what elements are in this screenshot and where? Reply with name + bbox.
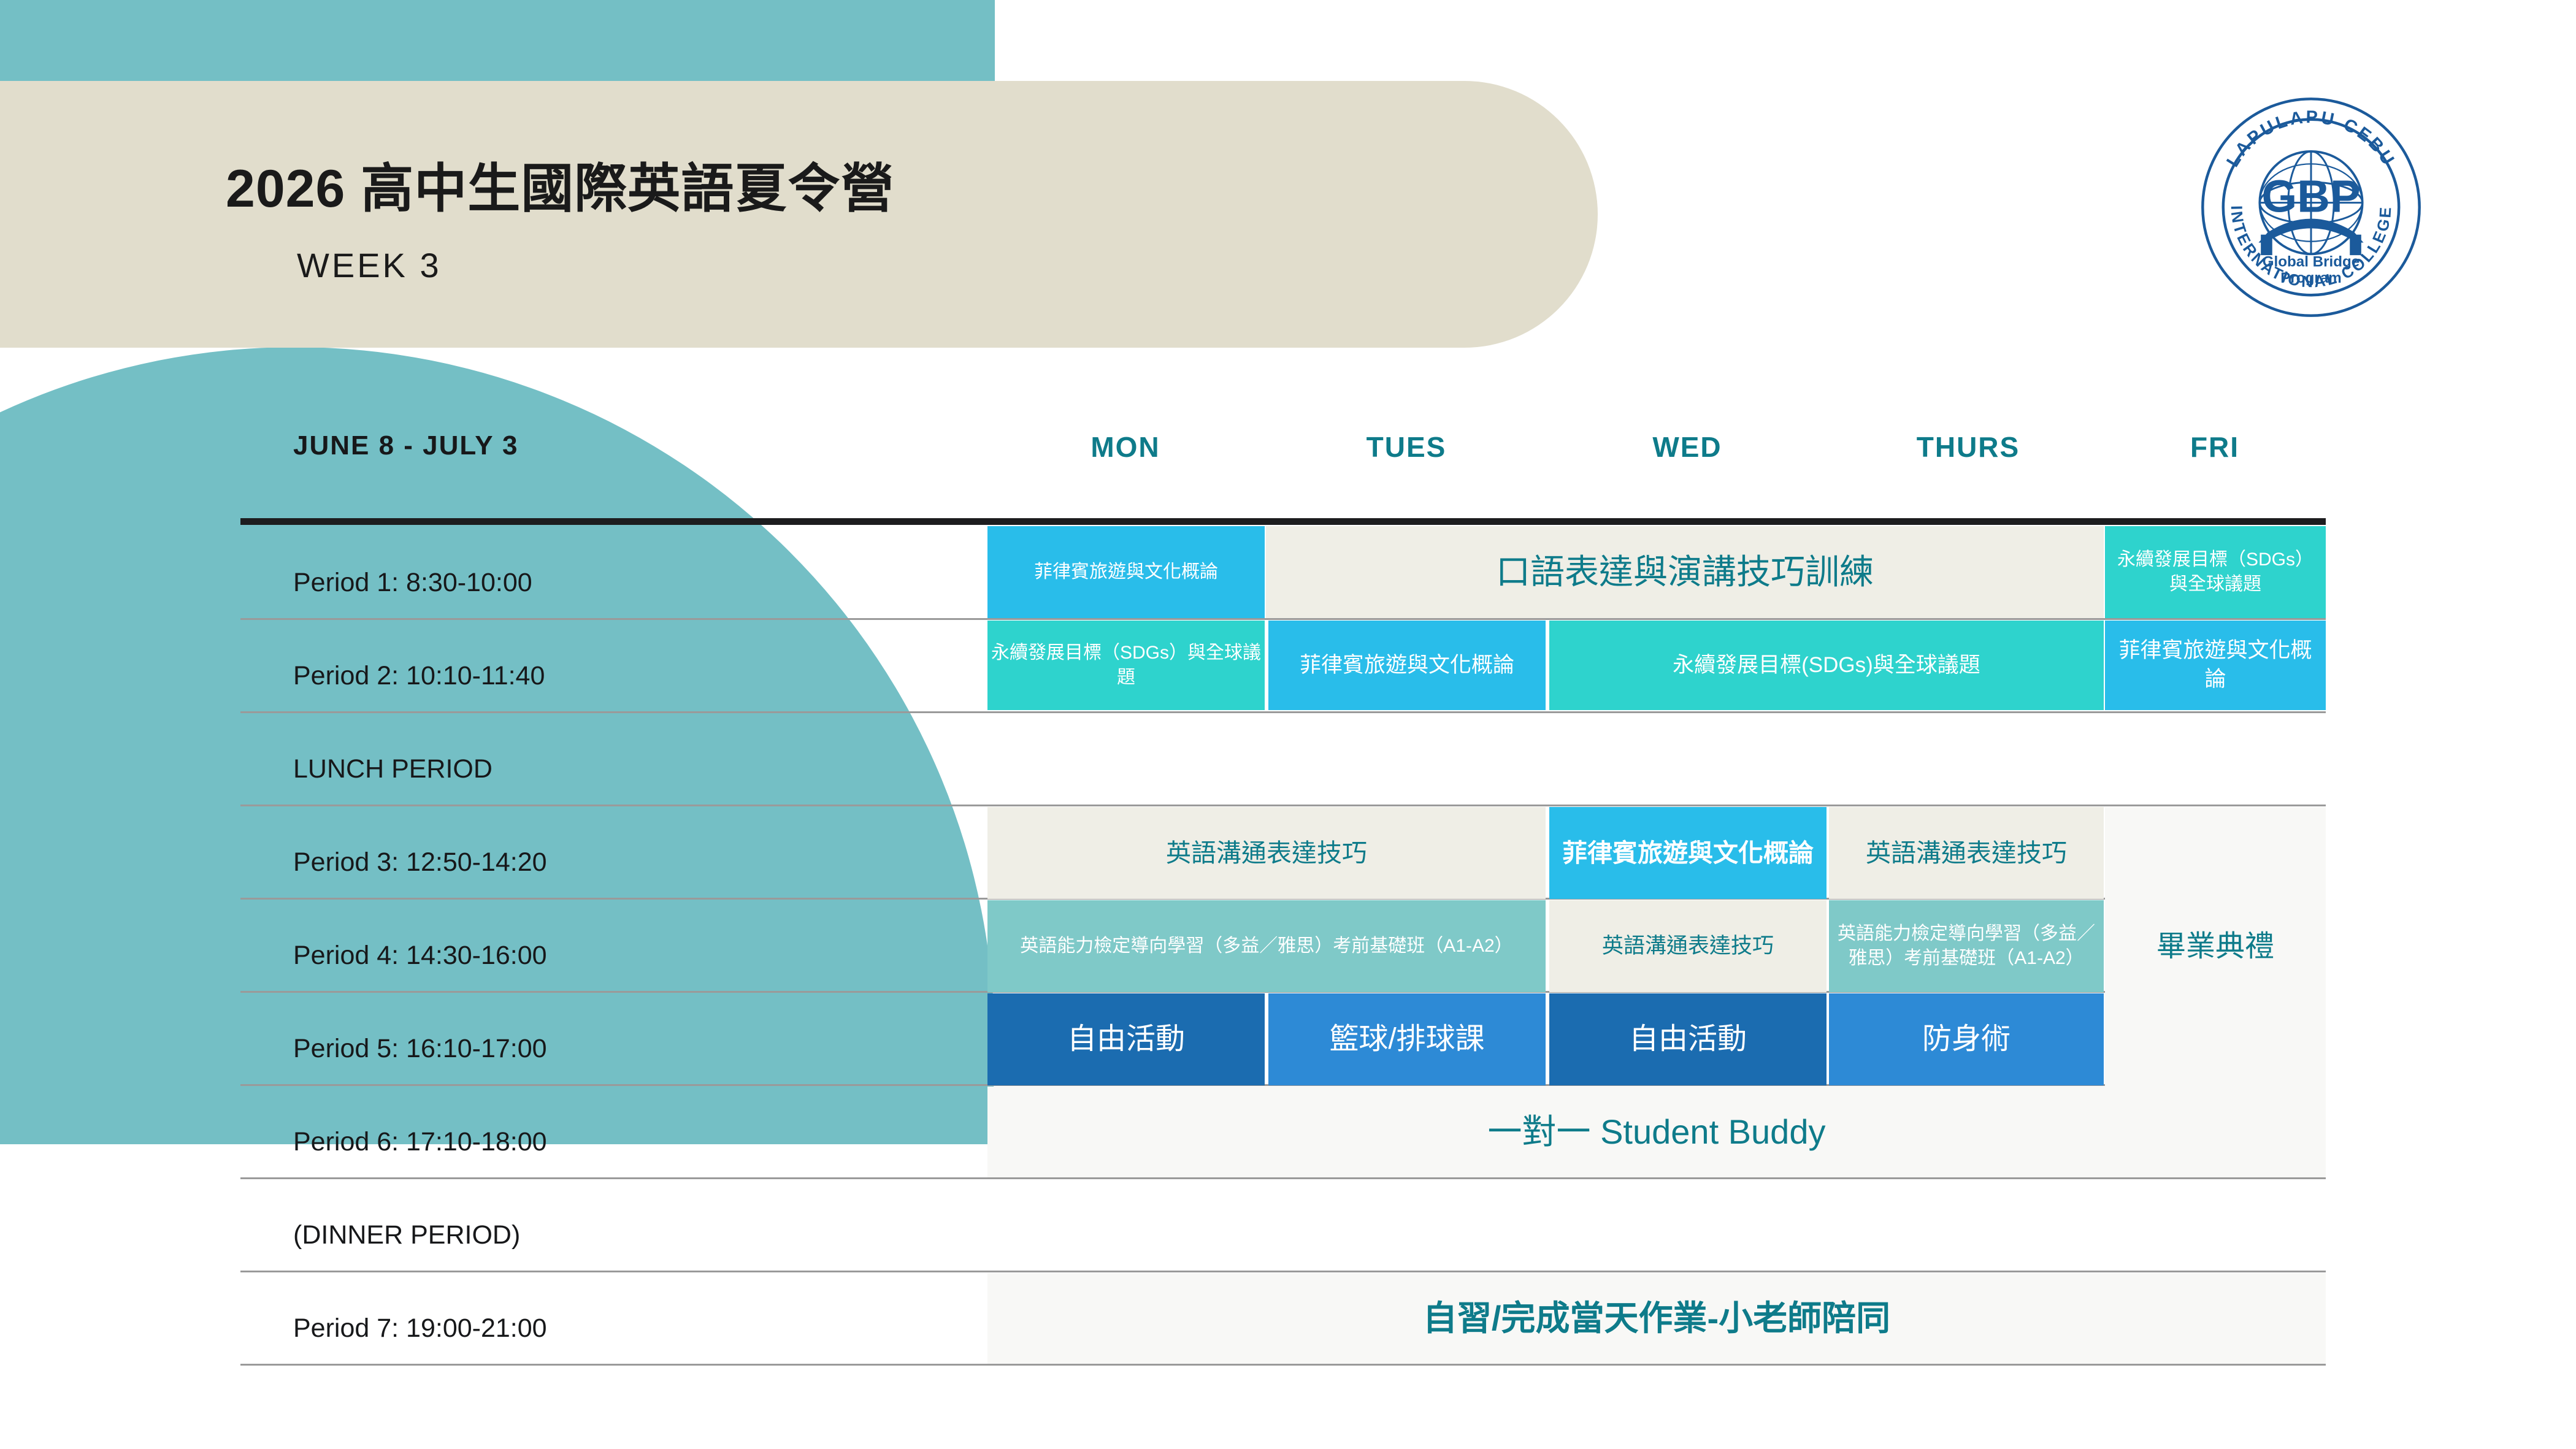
time-label-period-6: Period 6: 17:10-18:00	[293, 1127, 547, 1157]
row-divider-1	[240, 618, 2326, 620]
class-cell-p3-thu[interactable]: 英語溝通表達技巧	[1829, 807, 2104, 899]
page-title: 2026 高中生國際英語夏令營	[226, 145, 894, 222]
week-subtitle: WEEK 3	[297, 245, 442, 285]
class-cell-p2-fri[interactable]: 菲律賓旅遊與文化概論	[2105, 621, 2326, 710]
time-label-period-4: Period 4: 14:30-16:00	[293, 941, 547, 971]
class-cell-text: 自由活動	[1553, 1020, 1823, 1059]
class-cell-text: 籃球/排球課	[1272, 1020, 1542, 1059]
class-cell-p5-mon[interactable]: 自由活動	[987, 993, 1265, 1085]
class-cell-p4-mon-tue[interactable]: 英語能力檢定導向學習（多益／雅思）考前基礎班（A1-A2）	[987, 900, 1546, 992]
class-cell-text: 英語溝通表達技巧	[1553, 932, 1823, 961]
class-cell-text: 菲律賓旅遊與文化概論	[1272, 651, 1542, 680]
class-cell-text: 畢業典禮	[2109, 927, 2322, 966]
class-cell-p2-mon[interactable]: 永續發展目標（SDGs）與全球議題	[987, 621, 1265, 710]
class-cell-p5-wed[interactable]: 自由活動	[1549, 993, 1827, 1085]
weekly-schedule-table: JUNE 8 - JULY 3 MON TUES WED THURS FRI P…	[240, 380, 2326, 1392]
class-cell-p4-wed[interactable]: 英語溝通表達技巧	[1549, 900, 1827, 992]
class-cell-p5-tue[interactable]: 籃球/排球課	[1268, 993, 1546, 1085]
class-cell-text: 防身術	[1833, 1020, 2100, 1059]
time-label-period-3: Period 3: 12:50-14:20	[293, 847, 547, 877]
time-label-lunch: LUNCH PERIOD	[293, 754, 493, 784]
gbp-college-seal-logo: GBP Global Bridge Program LAPULAPU CEBU …	[2197, 93, 2425, 321]
class-cell-text: 英語溝通表達技巧	[991, 836, 1542, 870]
class-cell-text: 一對一 Student Buddy	[991, 1109, 2322, 1155]
time-label-dinner: (DINNER PERIOD)	[293, 1220, 520, 1250]
day-header-thurs: THURS	[1830, 430, 2106, 464]
class-cell-text: 永續發展目標（SDGs）與全球議題	[2109, 548, 2322, 597]
class-cell-text: 永續發展目標（SDGs）與全球議題	[991, 641, 1261, 690]
time-label-period-5: Period 5: 16:10-17:00	[293, 1034, 547, 1064]
class-cell-p3-wed[interactable]: 菲律賓旅遊與文化概論	[1549, 807, 1827, 899]
class-cell-text: 菲律賓旅遊與文化概論	[2109, 637, 2322, 694]
class-cell-text: 自習/完成當天作業-小老師陪同	[991, 1296, 2322, 1341]
row-divider-3	[240, 805, 2326, 806]
class-cell-text: 口語表達與演講技巧訓練	[1270, 549, 2100, 595]
header-divider	[240, 518, 2326, 525]
slide-canvas: 2026 高中生國際英語夏令營 WEEK 3 GBP Global Bri	[0, 0, 2576, 1449]
class-cell-p3-mon-tue[interactable]: 英語溝通表達技巧	[987, 807, 1546, 899]
class-cell-p1-tue-thu[interactable]: 口語表達與演講技巧訓練	[1266, 526, 2104, 618]
class-cell-p5-thu[interactable]: 防身術	[1829, 993, 2104, 1085]
time-label-period-7: Period 7: 19:00-21:00	[293, 1313, 547, 1344]
table-header-row: JUNE 8 - JULY 3 MON TUES WED THURS FRI	[240, 380, 2326, 518]
class-cell-p7-self-study[interactable]: 自習/完成當天作業-小老師陪同	[987, 1273, 2326, 1364]
class-cell-p2-tue[interactable]: 菲律賓旅遊與文化概論	[1268, 621, 1546, 710]
day-header-mon: MON	[987, 430, 1263, 464]
class-cell-text: 英語能力檢定導向學習（多益／雅思）考前基礎班（A1-A2）	[1833, 922, 2100, 971]
time-label-period-2: Period 2: 10:10-11:40	[293, 661, 545, 691]
day-header-fri: FRI	[2104, 430, 2326, 464]
class-cell-p6-student-buddy[interactable]: 一對一 Student Buddy	[987, 1087, 2326, 1177]
class-cell-p1-fri[interactable]: 永續發展目標（SDGs）與全球議題	[2105, 526, 2326, 618]
class-cell-p4-thu[interactable]: 英語能力檢定導向學習（多益／雅思）考前基礎班（A1-A2）	[1829, 900, 2104, 992]
day-header-wed: WED	[1549, 430, 1825, 464]
class-cell-text: 自由活動	[991, 1020, 1261, 1059]
class-cell-fri-graduation[interactable]: 畢業典禮	[2105, 807, 2326, 1087]
class-cell-text: 英語能力檢定導向學習（多益／雅思）考前基礎班（A1-A2）	[991, 934, 1542, 958]
class-cell-text: 永續發展目標(SDGs)與全球議題	[1553, 651, 2100, 680]
class-cell-p1-mon[interactable]: 菲律賓旅遊與文化概論	[987, 526, 1265, 618]
row-divider-8	[240, 1271, 2326, 1272]
date-range-label: JUNE 8 - JULY 3	[293, 430, 519, 461]
logo-monogram: GBP	[2261, 170, 2360, 221]
class-cell-text: 英語溝通表達技巧	[1833, 836, 2100, 870]
row-divider-7	[240, 1177, 2326, 1179]
day-header-tues: TUES	[1268, 430, 1544, 464]
row-divider-9	[240, 1364, 2326, 1366]
time-label-period-1: Period 1: 8:30-10:00	[293, 568, 532, 598]
class-cell-text: 菲律賓旅遊與文化概論	[991, 560, 1261, 584]
class-cell-text: 菲律賓旅遊與文化概論	[1553, 836, 1823, 870]
row-divider-2	[240, 711, 2326, 713]
class-cell-p2-wed-thu[interactable]: 永續發展目標(SDGs)與全球議題	[1549, 621, 2104, 710]
